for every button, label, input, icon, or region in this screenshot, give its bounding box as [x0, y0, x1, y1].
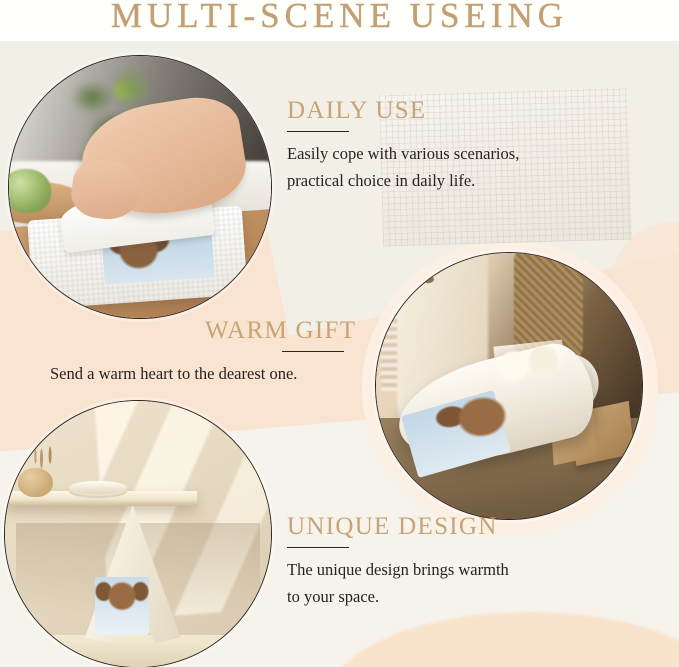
lower-ledge [32, 635, 245, 667]
section-body-unique-design: The unique design brings warmth to your … [287, 557, 627, 610]
section-heading-daily-use: DAILY USE [287, 97, 617, 125]
dog-face-icon [95, 566, 148, 625]
product-infographic: MULTI-SCENE USEING [0, 0, 679, 667]
heading-rule [282, 351, 344, 353]
section-daily-use: DAILY USE Easily cope with various scena… [287, 97, 617, 195]
green-vegetable [8, 169, 51, 214]
section-body-daily-use: Easily cope with various scenarios, prac… [287, 141, 617, 194]
photo-daily-use [8, 55, 272, 319]
section-warm-gift: WARM GIFT Send a warm heart to the deare… [205, 317, 585, 388]
scene-unique-design [5, 401, 271, 667]
stacked-plates [69, 481, 128, 494]
section-unique-design: UNIQUE DESIGN The unique design brings w… [287, 513, 627, 611]
heading-rule [287, 547, 349, 549]
dried-flowers [392, 253, 461, 322]
section-heading-unique-design: UNIQUE DESIGN [287, 513, 627, 541]
photo-unique-design [4, 400, 272, 667]
page-title: MULTI-SCENE USEING [0, 0, 679, 36]
section-body-warm-gift: Send a warm heart to the dearest one. [50, 361, 470, 388]
ceramic-vase [18, 468, 53, 497]
section-heading-warm-gift: WARM GIFT [205, 317, 585, 345]
heading-rule [287, 131, 349, 133]
scene-daily-use [9, 56, 271, 318]
